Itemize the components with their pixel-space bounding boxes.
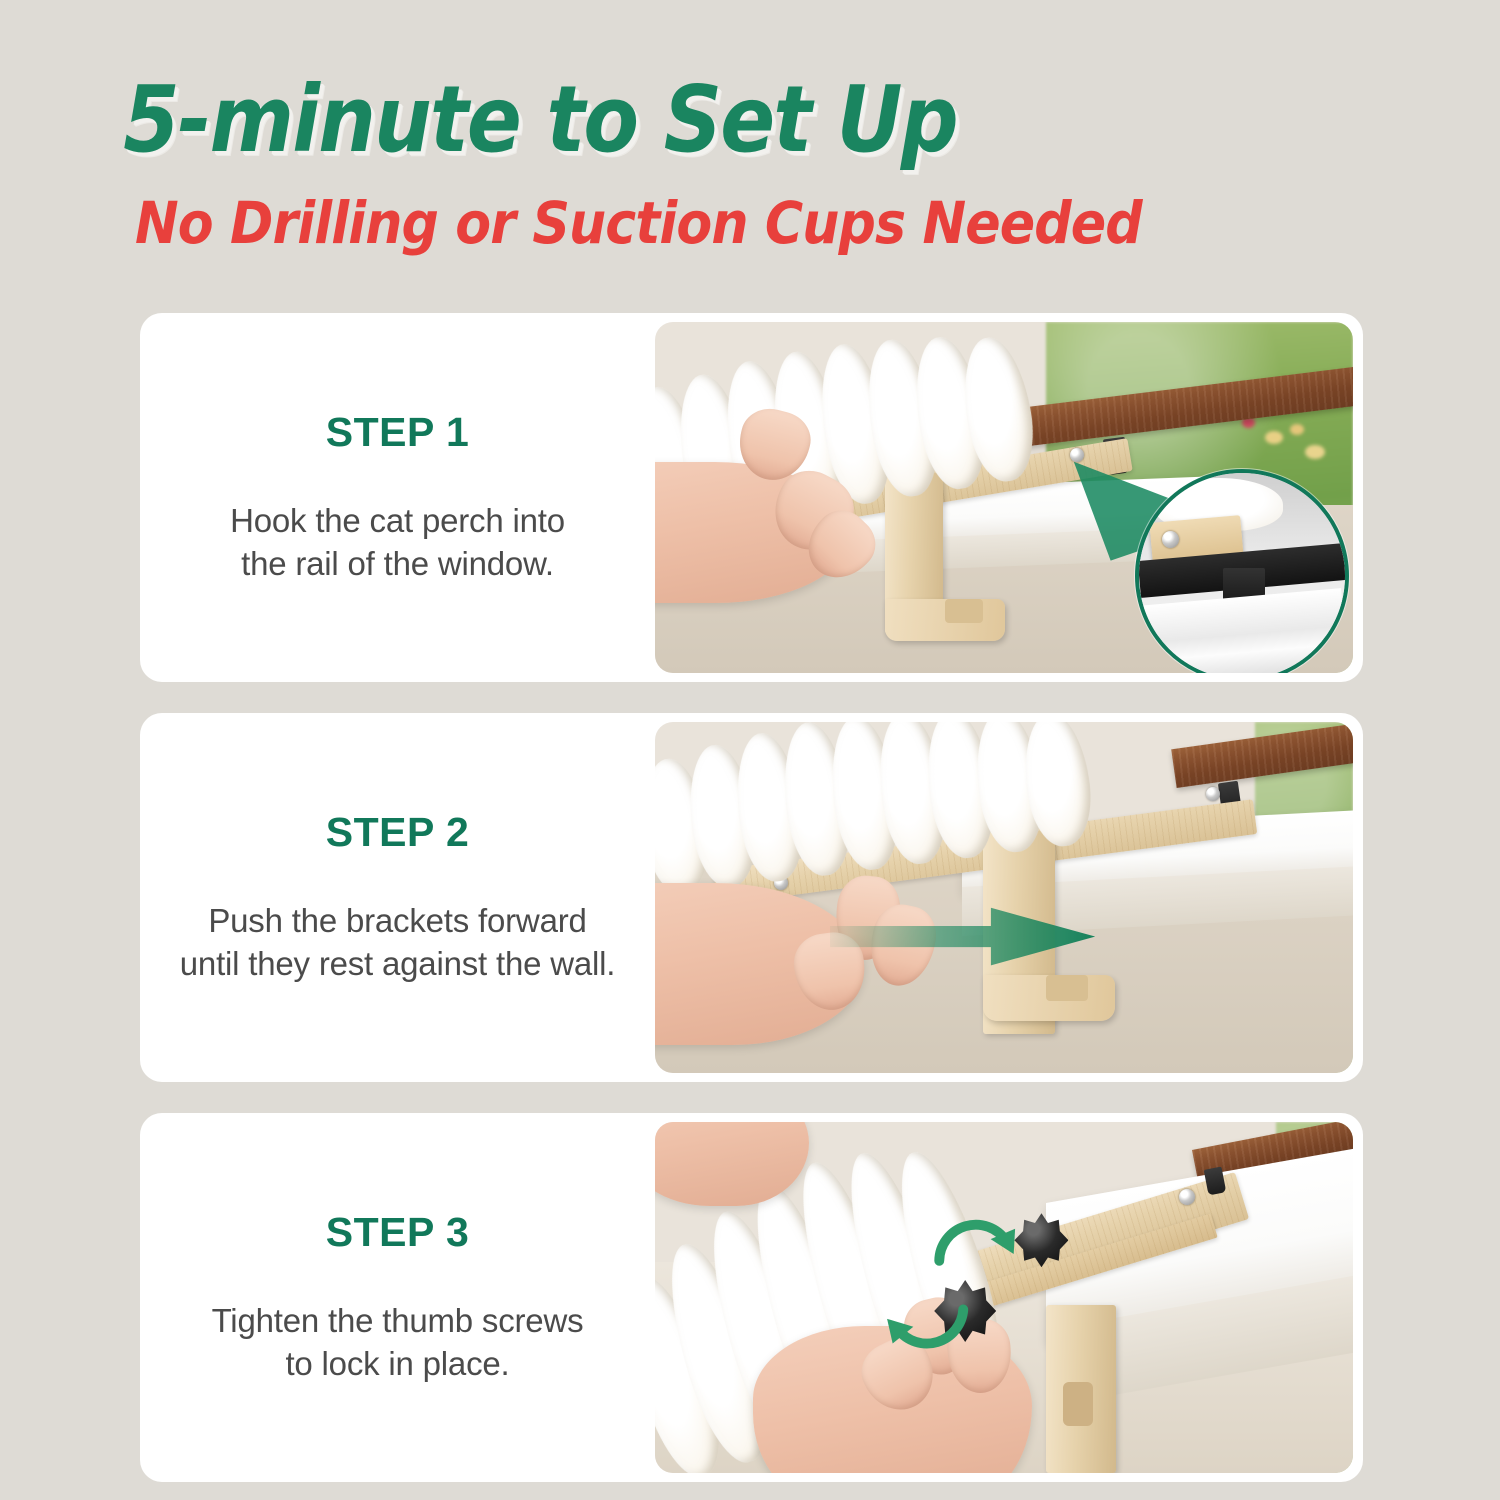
flower-5 [1290, 424, 1304, 435]
step-3-text-block: STEP 3 Tighten the thumb screws to lock … [140, 1113, 655, 1482]
page-title: 5-minute to Set Up [0, 74, 1320, 166]
step-1-description-line2: the rail of the window. [241, 545, 554, 582]
callout-white-sill [1136, 588, 1348, 673]
step-card-2: STEP 2 Push the brackets forward until t… [140, 713, 1363, 1082]
step-card-1: STEP 1 Hook the cat perch into the rail … [140, 313, 1363, 682]
step-3-description-line2: to lock in place. [285, 1345, 509, 1382]
step-2-description: Push the brackets forward until they res… [180, 900, 615, 986]
page-header: 5-minute to Set Up No Drilling or Suctio… [0, 0, 1500, 252]
step-1-label: STEP 1 [326, 409, 470, 456]
perch-hook-notch [945, 599, 983, 623]
callout-zoom-circle [1135, 469, 1349, 673]
perch-hook-notch [1063, 1382, 1093, 1426]
step-1-text-block: STEP 1 Hook the cat perch into the rail … [140, 313, 655, 682]
page-subtitle: No Drilling or Suction Cups Needed [0, 194, 1350, 252]
step-1-description-line1: Hook the cat perch into [230, 502, 565, 539]
step-3-description-line1: Tighten the thumb screws [212, 1302, 584, 1339]
rotation-arrow-lower [843, 1276, 1011, 1367]
step-3-description: Tighten the thumb screws to lock in plac… [212, 1300, 584, 1386]
step-3-photo [655, 1122, 1353, 1473]
callout-inner-scene [1139, 473, 1345, 673]
step-2-label: STEP 2 [326, 809, 470, 856]
steps-list: STEP 1 Hook the cat perch into the rail … [140, 313, 1363, 1500]
step-2-description-line1: Push the brackets forward [208, 902, 586, 939]
flower-4 [1305, 445, 1325, 459]
step-1-description: Hook the cat perch into the rail of the … [230, 500, 565, 586]
perch-board-screw [1179, 1189, 1195, 1205]
step-card-3: STEP 3 Tighten the thumb screws to lock … [140, 1113, 1363, 1482]
callout-screw [1162, 531, 1179, 548]
push-direction-arrow [830, 905, 1095, 968]
step-1-photo [655, 322, 1353, 673]
perch-hook-notch [1046, 975, 1088, 1001]
step-3-label: STEP 3 [326, 1209, 470, 1256]
flower-3 [1265, 431, 1283, 444]
step-2-photo [655, 722, 1353, 1073]
step-2-text-block: STEP 2 Push the brackets forward until t… [140, 713, 655, 1082]
step-2-description-line2: until they rest against the wall. [180, 945, 615, 982]
